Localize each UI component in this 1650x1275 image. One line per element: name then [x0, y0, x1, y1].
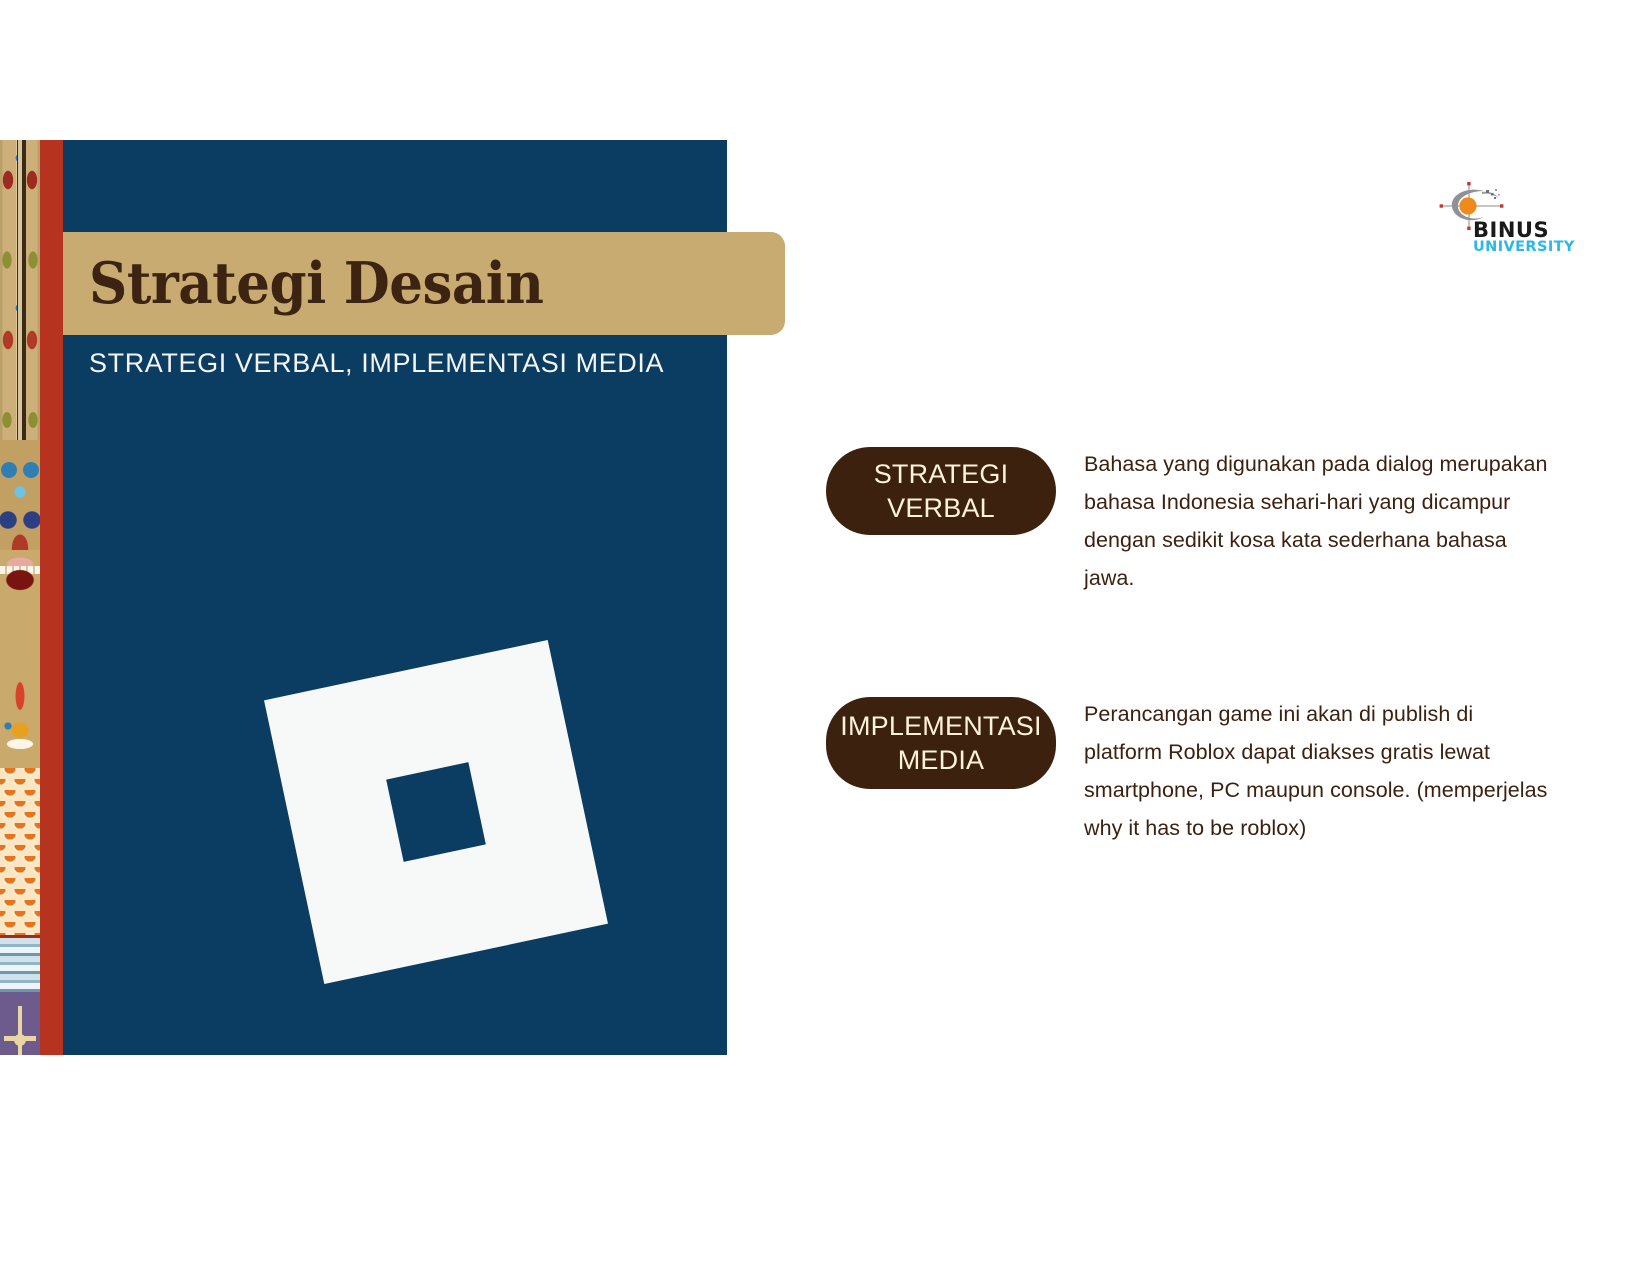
binus-logo: BINUS UNIVERSITY	[1434, 182, 1554, 258]
ornament-barong-mouth	[0, 550, 40, 670]
balinese-carving-ornament	[0, 140, 40, 1055]
ornament-purple-rosette	[0, 992, 40, 1055]
pill-strategi-verbal[interactable]: STRATEGI VERBAL	[826, 447, 1056, 535]
roblox-inner-square	[386, 762, 486, 862]
ornament-cornice-strip	[0, 935, 40, 995]
binus-wordmark: BINUS	[1473, 220, 1549, 241]
pill-label: IMPLEMENTASI MEDIA	[836, 709, 1046, 777]
page-title: Strategi Desain	[89, 255, 544, 312]
paragraph-implementasi-media: Perancangan game ini akan di publish di …	[1084, 695, 1554, 847]
ornament-flame-lotus	[0, 660, 40, 770]
ornament-roof-scales	[0, 768, 40, 938]
red-accent-stripe	[40, 140, 63, 1055]
pill-label: STRATEGI VERBAL	[834, 457, 1048, 525]
binus-university-label: UNIVERSITY	[1473, 240, 1575, 255]
roblox-logo-icon	[264, 640, 608, 984]
page-subtitle: STRATEGI VERBAL, IMPLEMENTASI MEDIA	[89, 348, 664, 379]
slide-canvas: Strategi Desain STRATEGI VERBAL, IMPLEME…	[0, 0, 1650, 1275]
title-band: Strategi Desain	[63, 232, 785, 335]
paragraph-strategi-verbal: Bahasa yang digunakan pada dialog merupa…	[1084, 445, 1554, 597]
pill-implementasi-media[interactable]: IMPLEMENTASI MEDIA	[826, 697, 1056, 789]
